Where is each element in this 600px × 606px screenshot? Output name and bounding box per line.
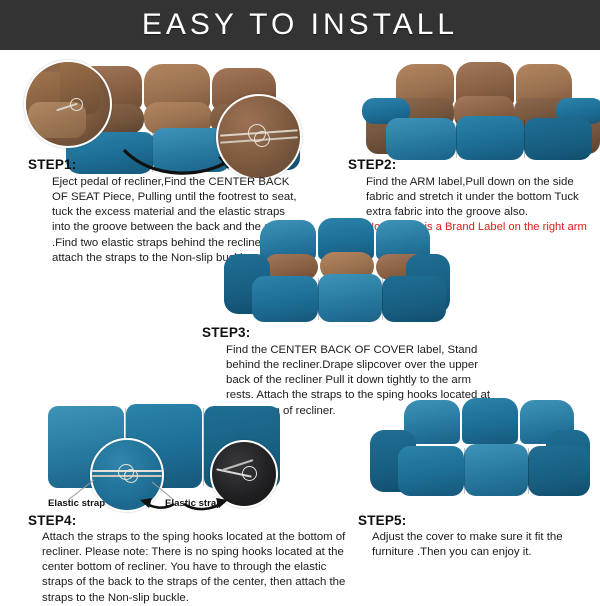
step3-image bbox=[208, 218, 448, 326]
step1-image bbox=[18, 58, 318, 168]
step5-body: Adjust the cover to make sure it fit the… bbox=[358, 530, 598, 560]
elastic-strap-label-right: Elastic strap bbox=[165, 498, 222, 509]
step1-inset-pedal bbox=[24, 60, 112, 148]
step2-body: Find the ARM label,Pull down on the side… bbox=[348, 175, 598, 220]
header-banner: EASY TO INSTALL bbox=[0, 0, 600, 50]
step4-body: Attach the straps to the sping hooks loc… bbox=[28, 530, 346, 606]
step2-image bbox=[338, 58, 588, 162]
step5-image bbox=[360, 396, 580, 498]
step1-heading: STEP1: bbox=[28, 157, 298, 172]
step5-heading: STEP5: bbox=[358, 513, 598, 528]
step4-heading: STEP4: bbox=[28, 513, 346, 528]
step4-image bbox=[24, 396, 324, 496]
step2-heading: STEP2: bbox=[348, 157, 598, 172]
step3-heading: STEP3: bbox=[202, 325, 502, 340]
page-title: EASY TO INSTALL bbox=[142, 10, 458, 40]
elastic-strap-label-left: Elastic strap bbox=[48, 498, 105, 509]
